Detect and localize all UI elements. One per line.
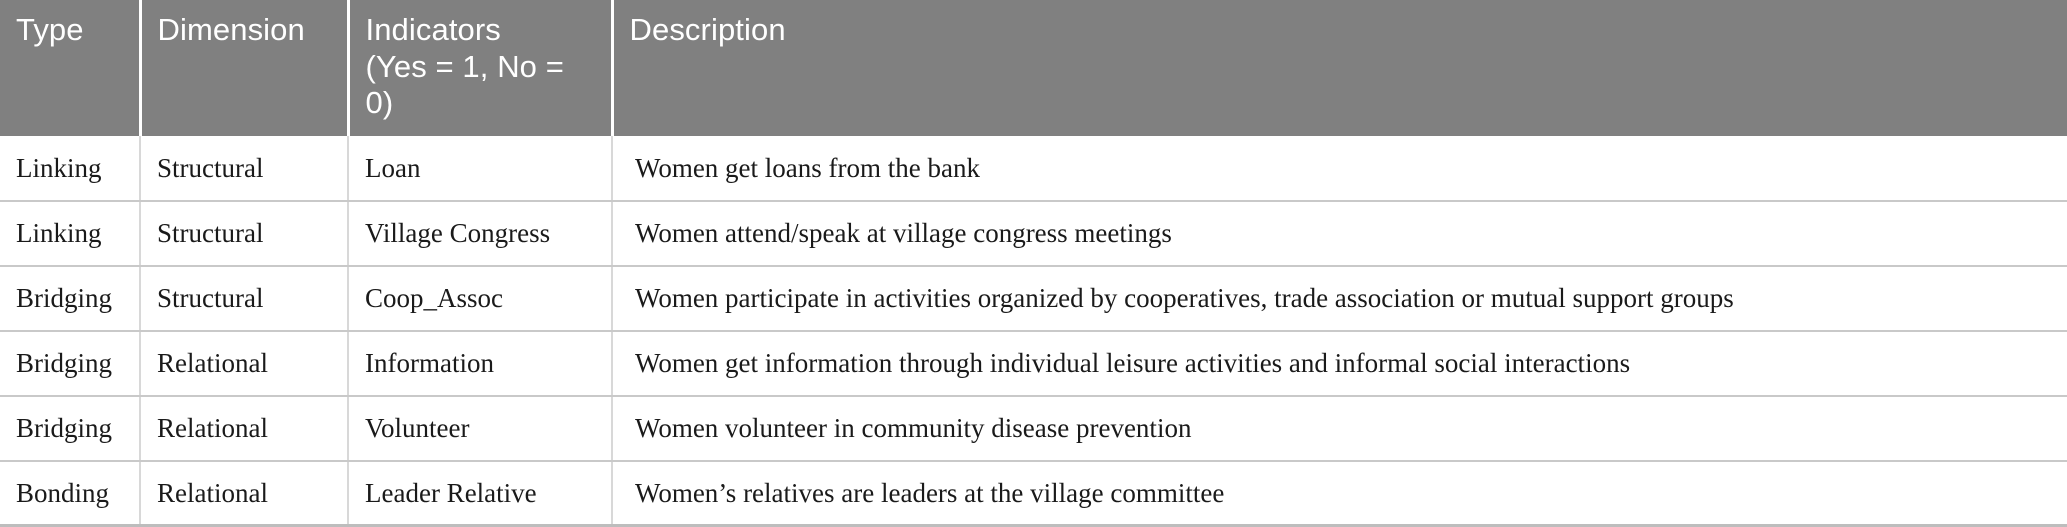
column-header-type: Type xyxy=(0,0,140,136)
column-header-dimension-label: Dimension xyxy=(158,12,305,47)
column-header-indicators-sublabel: (Yes = 1, No = 0) xyxy=(366,49,595,122)
cell-description: Women get loans from the bank xyxy=(612,136,2067,201)
table-body: Linking Structural Loan Women get loans … xyxy=(0,136,2067,526)
cell-type: Linking xyxy=(0,201,140,266)
cell-description: Women participate in activities organize… xyxy=(612,266,2067,331)
column-header-description: Description xyxy=(612,0,2067,136)
cell-description: Women attend/speak at village congress m… xyxy=(612,201,2067,266)
column-header-description-label: Description xyxy=(630,12,786,47)
table-row: Linking Structural Village Congress Wome… xyxy=(0,201,2067,266)
cell-dimension: Structural xyxy=(140,266,348,331)
table-header-row: Type Dimension Indicators (Yes = 1, No =… xyxy=(0,0,2067,136)
cell-dimension: Structural xyxy=(140,201,348,266)
cell-description: Women volunteer in community disease pre… xyxy=(612,396,2067,461)
table-row: Bridging Relational Volunteer Women volu… xyxy=(0,396,2067,461)
cell-type: Bridging xyxy=(0,396,140,461)
cell-dimension: Relational xyxy=(140,331,348,396)
cell-description: Women’s relatives are leaders at the vil… xyxy=(612,461,2067,526)
cell-indicators: Village Congress xyxy=(348,201,612,266)
column-header-dimension: Dimension xyxy=(140,0,348,136)
cell-indicators: Volunteer xyxy=(348,396,612,461)
column-header-indicators-label: Indicators xyxy=(366,12,501,47)
cell-indicators: Information xyxy=(348,331,612,396)
cell-description: Women get information through individual… xyxy=(612,331,2067,396)
table-row: Bridging Structural Coop_Assoc Women par… xyxy=(0,266,2067,331)
cell-indicators: Loan xyxy=(348,136,612,201)
table-row: Bonding Relational Leader Relative Women… xyxy=(0,461,2067,526)
cell-dimension: Relational xyxy=(140,461,348,526)
cell-indicators: Coop_Assoc xyxy=(348,266,612,331)
column-header-indicators: Indicators (Yes = 1, No = 0) xyxy=(348,0,612,136)
cell-type: Bonding xyxy=(0,461,140,526)
social-capital-indicators-table: Type Dimension Indicators (Yes = 1, No =… xyxy=(0,0,2067,527)
table-row: Bridging Relational Information Women ge… xyxy=(0,331,2067,396)
cell-dimension: Structural xyxy=(140,136,348,201)
cell-type: Bridging xyxy=(0,331,140,396)
table-row: Linking Structural Loan Women get loans … xyxy=(0,136,2067,201)
column-header-type-label: Type xyxy=(16,12,84,47)
cell-indicators: Leader Relative xyxy=(348,461,612,526)
cell-dimension: Relational xyxy=(140,396,348,461)
table-container: Type Dimension Indicators (Yes = 1, No =… xyxy=(0,0,2067,501)
cell-type: Linking xyxy=(0,136,140,201)
table-header: Type Dimension Indicators (Yes = 1, No =… xyxy=(0,0,2067,136)
cell-type: Bridging xyxy=(0,266,140,331)
